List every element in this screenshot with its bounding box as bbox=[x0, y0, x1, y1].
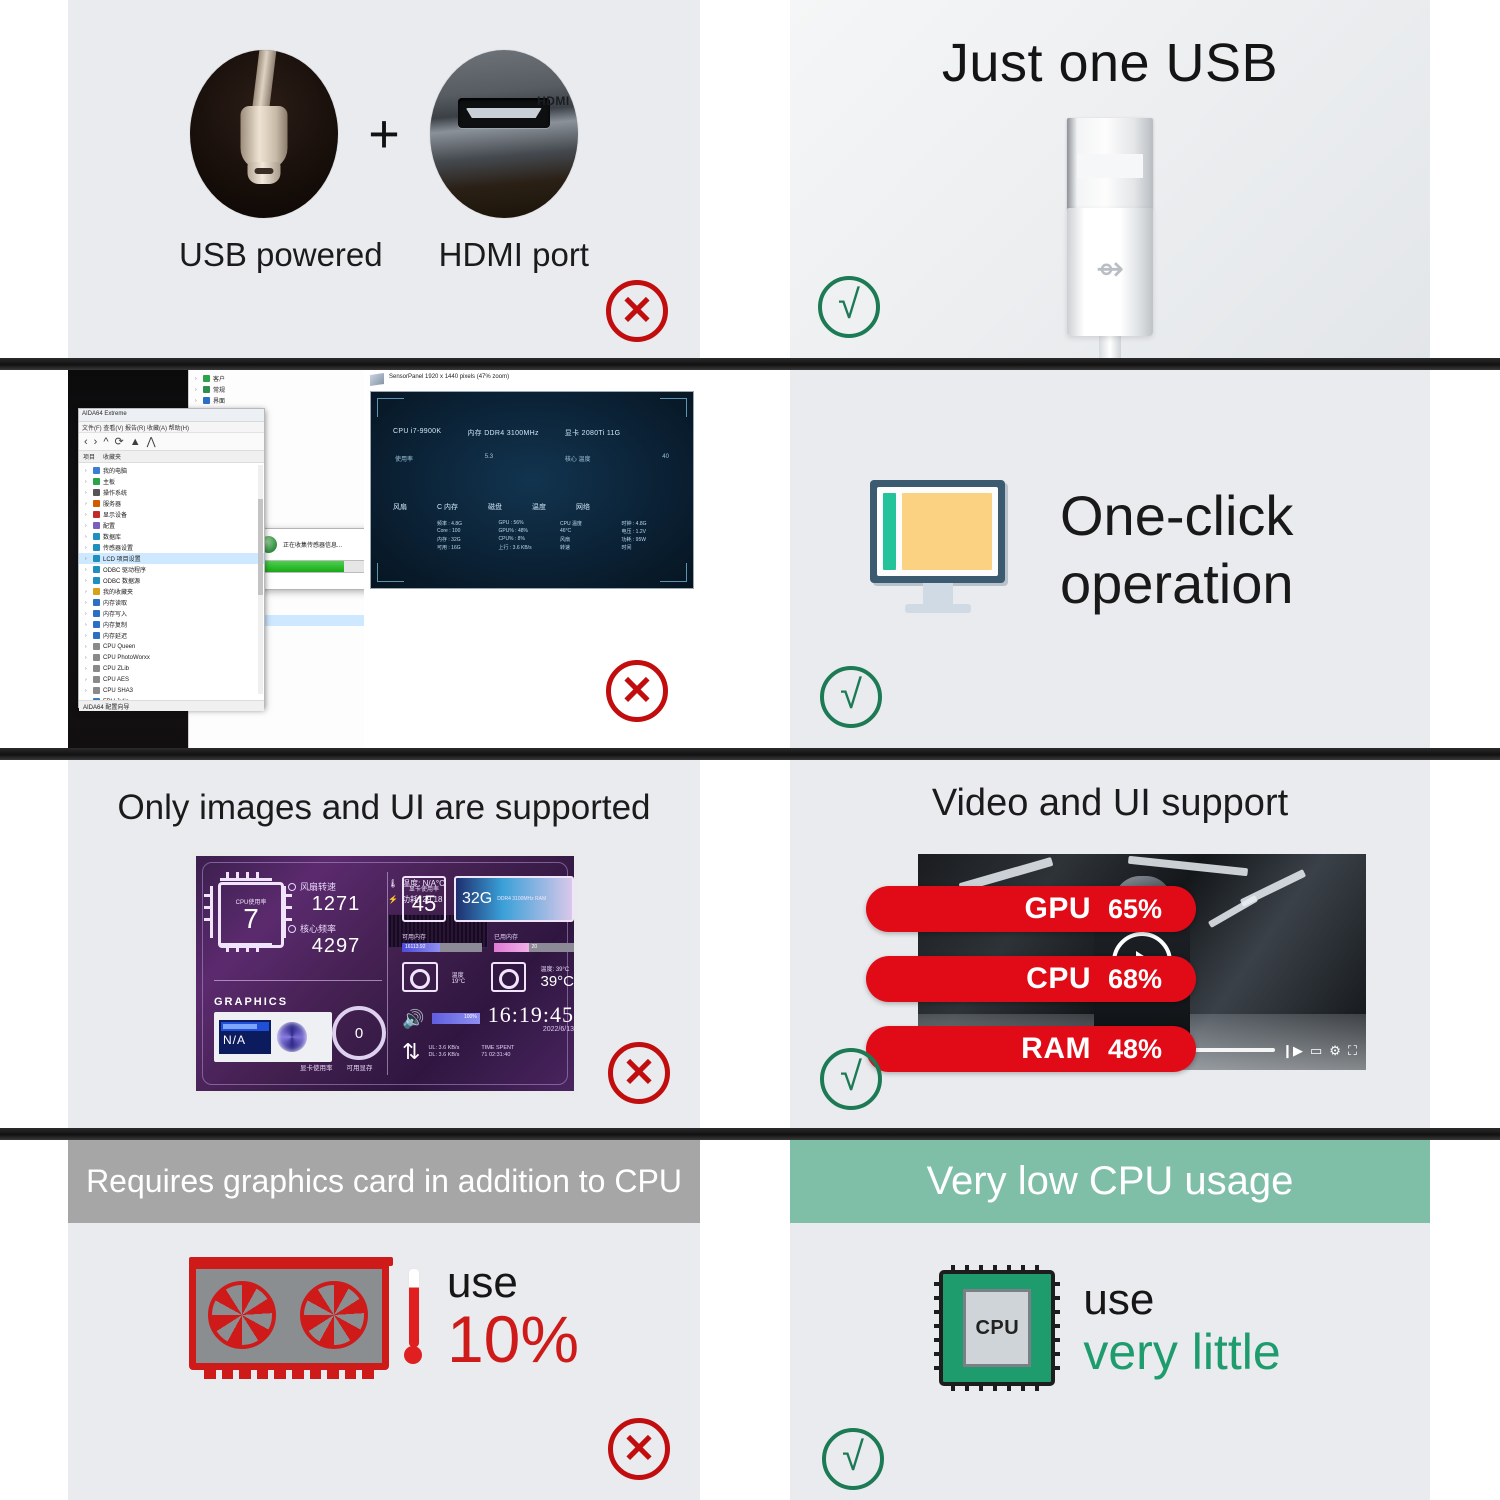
usage-pill-list: GPU 65% CPU 68% RAM 48% bbox=[866, 886, 1196, 1096]
gpu-card-icon: N/A bbox=[214, 1012, 332, 1062]
chevron-icon[interactable]: › bbox=[85, 523, 90, 529]
gpu-usage-gauge: 0 bbox=[332, 1006, 386, 1060]
pill-gpu-label: GPU bbox=[866, 892, 1104, 926]
mem-free-value: 16113.92 bbox=[405, 944, 425, 950]
row-separator-2 bbox=[0, 748, 1500, 760]
one-click-headline: One-click operation bbox=[1060, 482, 1420, 619]
tree-node-label: 界面 bbox=[213, 396, 225, 405]
tree-node-label: 常规 bbox=[213, 385, 225, 394]
connector-labels: USB powered HDMI port bbox=[68, 236, 700, 274]
pill-gpu: GPU 65% bbox=[866, 886, 1196, 932]
chevron-icon[interactable]: › bbox=[85, 633, 90, 639]
usb-a-connector-icon: ⇴ bbox=[1067, 118, 1153, 358]
panel-video-ui-support: Video and UI support ◀❙ ❙▶ ▭ ⚙ ⛶ GPU 65% bbox=[790, 760, 1430, 1128]
chevron-icon[interactable]: › bbox=[85, 567, 90, 573]
pill-gpu-value: 65% bbox=[1104, 894, 1196, 925]
forward-icon[interactable]: › bbox=[94, 436, 98, 448]
gauge-captions: 显卡使用率 可用显存 bbox=[300, 1062, 373, 1072]
plus-symbol: + bbox=[368, 107, 400, 161]
tree-node[interactable]: ›CPU SHA3 bbox=[79, 685, 264, 696]
tree-node[interactable]: ›LCD 项目设置 bbox=[79, 553, 264, 564]
preview-readout: 上行 : 3.6 KB/s bbox=[499, 544, 555, 551]
headline-line-2: operation bbox=[1060, 550, 1420, 618]
gpu-usage-value: 45 bbox=[412, 893, 436, 915]
preview-section-line: 风扇 C 内存 磁盘 温度 网络 bbox=[393, 502, 671, 512]
tree-node[interactable]: ›CPU Queen bbox=[79, 641, 264, 652]
gauge-caption-2: 可用显存 bbox=[347, 1062, 373, 1072]
preview-readout: 时间 bbox=[622, 544, 678, 551]
cross-mark-icon: ✕ bbox=[606, 280, 668, 342]
cpu-chip-icon: CPU bbox=[939, 1270, 1055, 1386]
column-favorites: 收藏夹 bbox=[99, 451, 125, 462]
hdmi-port-label-text: HDMI port bbox=[439, 236, 589, 274]
chevron-icon[interactable]: › bbox=[195, 376, 200, 382]
preview-readout: GPU% : 48% bbox=[499, 528, 555, 535]
window-toolbar[interactable]: ‹ › ^ ⟳ ▲ ⋀ bbox=[79, 433, 264, 451]
thermometer-icon: 🌡 bbox=[388, 879, 398, 888]
tree-node[interactable]: ›CPU ZLib bbox=[79, 663, 264, 674]
preview-readout-grid: 频率 : 4.8GGPU : 56%CPU 温度时钟 : 4.8GCore : … bbox=[437, 520, 677, 551]
core-freq-label: 核心频率 bbox=[288, 922, 384, 935]
tree-node[interactable]: ›常规 bbox=[189, 384, 364, 395]
tree-node[interactable]: ›客户 bbox=[189, 373, 364, 384]
tree-node[interactable]: ›内存写入 bbox=[79, 608, 264, 619]
preview-readout: 功耗 : 95W bbox=[622, 536, 678, 543]
pill-ram-label: RAM bbox=[866, 1032, 1104, 1066]
check-mark-icon: √ bbox=[820, 666, 882, 728]
tree-node-icon bbox=[93, 489, 100, 496]
pill-ram-value: 48% bbox=[1104, 1034, 1196, 1065]
tree-node-label: 配置 bbox=[103, 521, 115, 530]
tree-node[interactable]: ›显示设备 bbox=[79, 509, 264, 520]
aida64-main-window: AIDA64 Extreme 文件(F) 查看(V) 报告(R) 收藏(A) 帮… bbox=[78, 408, 265, 708]
tree-node-label: 操作系统 bbox=[103, 488, 127, 497]
chart-icon[interactable]: ⋀ bbox=[147, 435, 156, 448]
chevron-icon[interactable]: › bbox=[85, 655, 90, 661]
preview-readout: 风扇 bbox=[560, 536, 616, 543]
cross-mark-icon: ✕ bbox=[608, 1418, 670, 1480]
volume-bar: 100% bbox=[432, 1013, 479, 1024]
chevron-icon[interactable]: › bbox=[85, 534, 90, 540]
cpu-use-text: use very little bbox=[1083, 1276, 1280, 1379]
disk2-label: 温度: 39°C bbox=[540, 964, 574, 973]
chevron-icon[interactable]: › bbox=[85, 578, 90, 584]
gpu-fan-icon bbox=[277, 1022, 307, 1052]
tree-node-icon bbox=[93, 621, 100, 628]
cpu-usage-chip: CPU使用率 7 bbox=[218, 882, 284, 948]
tree-node[interactable]: ›配置 bbox=[79, 520, 264, 531]
tree-node[interactable]: ›界面 bbox=[189, 395, 364, 406]
window-status-bar: AIDA64 配置向导 bbox=[79, 700, 264, 711]
tree-node-label: 主板 bbox=[103, 477, 115, 486]
tree-node[interactable]: ›数据库 bbox=[79, 531, 264, 542]
disk2-value: 39°C bbox=[540, 973, 574, 990]
panel-one-click-operation: One-click operation √ bbox=[790, 370, 1430, 748]
usb-c-cable-icon bbox=[190, 50, 338, 218]
mem-used-value: 20 bbox=[532, 944, 538, 950]
tree-node[interactable]: ›服务器 bbox=[79, 498, 264, 509]
cpu-chip-text: CPU bbox=[963, 1289, 1031, 1367]
chevron-icon[interactable]: › bbox=[85, 490, 90, 496]
speaker-icon: 🔊 bbox=[402, 1010, 424, 1028]
tree-node-label: 数据库 bbox=[103, 532, 121, 541]
window-title: AIDA64 Extreme bbox=[79, 409, 264, 422]
tree-node[interactable]: ›传感器设置 bbox=[79, 542, 264, 553]
disk-icon-2 bbox=[491, 962, 527, 992]
tree-node-icon bbox=[203, 386, 210, 393]
aida64-tree[interactable]: ›我的电脑›主板›操作系统›服务器›显示设备›配置›数据库›传感器设置›LCD … bbox=[79, 463, 264, 700]
gear-icon[interactable]: ⚙ bbox=[1329, 1044, 1341, 1057]
tree-node-label: 内存延迟 bbox=[103, 631, 127, 640]
monitor-ui-icon bbox=[870, 480, 1005, 613]
ram-sub-label: DDR4 3100MHz RAM bbox=[492, 896, 546, 902]
tree-node-icon bbox=[93, 665, 100, 672]
thermometer-icon bbox=[403, 1268, 423, 1364]
chevron-icon[interactable]: › bbox=[195, 398, 200, 404]
tree-node[interactable]: ›CPU PhotoWorxx bbox=[79, 652, 264, 663]
tree-node-label: 我的电脑 bbox=[103, 466, 127, 475]
preview-readout: CPU% : 8% bbox=[499, 536, 555, 543]
requires-gpu-caption-text: Requires graphics card in addition to CP… bbox=[86, 1163, 682, 1200]
gauge-value: 0 bbox=[355, 1025, 363, 1042]
chevron-icon[interactable]: › bbox=[85, 545, 90, 551]
hdmi-port-icon: HDMI bbox=[430, 50, 578, 218]
gpu-usage-block: use 10% bbox=[68, 1260, 700, 1372]
preview-readout: 内存 : 32G bbox=[437, 536, 493, 543]
preview-readout: GPU : 56% bbox=[499, 520, 555, 527]
chevron-icon[interactable]: › bbox=[85, 600, 90, 606]
low-cpu-caption-text: Very low CPU usage bbox=[927, 1159, 1294, 1204]
tree-node-label: 显示设备 bbox=[103, 510, 127, 519]
chevron-icon[interactable]: › bbox=[85, 611, 90, 617]
requires-gpu-caption: Requires graphics card in addition to CP… bbox=[68, 1140, 700, 1223]
tree-node-icon bbox=[93, 698, 100, 700]
tree-node-icon bbox=[203, 397, 210, 404]
tree-node-label: CPU PhotoWorxx bbox=[103, 655, 150, 661]
sensorpanel-preview: CPU i7-9900K 内存 DDR4 3100MHz 显卡 2080Ti 1… bbox=[370, 391, 694, 589]
lcd-clock: 16:19:45 bbox=[488, 1004, 574, 1026]
preview-header-text: SensorPanel 1920 x 1440 pixels (47% zoom… bbox=[389, 374, 509, 380]
cross-mark-icon: ✕ bbox=[608, 1042, 670, 1104]
tree-node-label: CPU AES bbox=[103, 677, 129, 683]
lcd-right-readouts: 显卡使用率 45 32G DDR4 3100MHz RAM 可用内存 16113… bbox=[402, 876, 574, 1063]
tree-node-icon bbox=[93, 588, 100, 595]
panel-requires-graphics-card: Requires graphics card in addition to CP… bbox=[68, 1140, 700, 1500]
tree-scrollbar[interactable] bbox=[258, 465, 263, 694]
row-separator-3 bbox=[0, 1128, 1500, 1140]
power-bolt-icon: ⚡ bbox=[388, 895, 398, 904]
cross-mark-icon: ✕ bbox=[606, 660, 668, 722]
mem-used-label: 已用内存 bbox=[494, 932, 574, 941]
chevron-icon[interactable]: › bbox=[85, 501, 90, 507]
net-up-value: UL: 3.6 KB/s bbox=[428, 1045, 459, 1052]
panel-aida64-screenshot: ›客户›常规›界面›稳定性›报告›输出文件›配置样式›电子邮件›FTP›基准›电… bbox=[68, 370, 700, 748]
chevron-icon[interactable]: › bbox=[85, 622, 90, 628]
only-images-headline: Only images and UI are supported bbox=[68, 788, 700, 828]
tree-node-label: 内存写入 bbox=[103, 609, 127, 618]
window-menu-bar: 文件(F) 查看(V) 报告(R) 收藏(A) 帮助(H) bbox=[79, 422, 264, 433]
usb-powered-label: USB powered bbox=[179, 236, 383, 274]
tree-node-label: 我的收藏夹 bbox=[103, 587, 133, 596]
lcd-date: 2022/6/13 bbox=[488, 1026, 574, 1033]
tree-column-headers: 项目 收藏夹 bbox=[79, 451, 264, 463]
tree-node[interactable]: ›内存延迟 bbox=[79, 630, 264, 641]
lcd-left-readouts: 风扇转速 1271 核心频率 4297 bbox=[288, 880, 384, 958]
tree-node-icon bbox=[93, 599, 100, 606]
up-icon[interactable]: ^ bbox=[103, 436, 108, 448]
cpu-use-label: use bbox=[1083, 1276, 1280, 1324]
network-arrows-icon: ⇅ bbox=[402, 1041, 420, 1063]
disk-icon-1 bbox=[402, 962, 438, 992]
ram-size-value: 32G bbox=[456, 890, 492, 908]
panel-only-images-ui: Only images and UI are supported bbox=[68, 760, 700, 1128]
chevron-icon[interactable]: › bbox=[195, 387, 200, 393]
gpu-use-label: use bbox=[447, 1260, 579, 1306]
graphics-card-icon bbox=[189, 1262, 389, 1370]
chevron-icon[interactable]: › bbox=[85, 556, 90, 562]
tree-node[interactable]: ›我的电脑 bbox=[79, 465, 264, 476]
tree-node-icon bbox=[93, 511, 100, 518]
ram-module-icon: 32G DDR4 3100MHz RAM bbox=[454, 876, 574, 922]
tree-node-label: ODBC 数据源 bbox=[103, 576, 140, 585]
gpu-use-value: 10% bbox=[447, 1306, 579, 1372]
panel-very-low-cpu-usage: Very low CPU usage CPU bbox=[790, 1140, 1430, 1500]
tree-node[interactable]: ›主板 bbox=[79, 476, 264, 487]
preview-readout: 频率 : 4.8G bbox=[437, 520, 493, 527]
preview-readout: CPU 温度 bbox=[560, 520, 616, 527]
volume-and-clock: 🔊 100% 16:19:45 2022/6/13 bbox=[402, 1004, 574, 1033]
cpu-use-value: very little bbox=[1083, 1325, 1280, 1380]
cpu-usage-block: CPU bbox=[790, 1270, 1430, 1386]
tree-node-icon bbox=[93, 676, 100, 683]
headline-line-1: One-click bbox=[1060, 482, 1420, 550]
infographic-sheet: + HDMI USB powered HDMI port ✕ Just one … bbox=[0, 0, 1500, 1500]
pill-ram: RAM 48% bbox=[866, 1026, 1196, 1072]
uptime-value: 71 02:31:40 bbox=[481, 1052, 514, 1059]
tree-node[interactable]: ›ODBC 驱动程序 bbox=[79, 564, 264, 575]
row-separator-1 bbox=[0, 358, 1500, 370]
tree-node-label: 客户 bbox=[213, 374, 225, 383]
tree-node-label: 内存读取 bbox=[103, 598, 127, 607]
tree-node-icon bbox=[93, 522, 100, 529]
gauge-caption-1: 显卡使用率 bbox=[300, 1062, 333, 1072]
report-icon[interactable]: ▲ bbox=[130, 436, 141, 448]
tree-node-label: 服务器 bbox=[103, 499, 121, 508]
preview-spec-line: CPU i7-9900K 内存 DDR4 3100MHz 显卡 2080Ti 1… bbox=[393, 428, 671, 438]
sensor-progress-bar bbox=[260, 560, 365, 573]
uptime-label: TIME SPENT bbox=[481, 1045, 514, 1052]
tree-node[interactable]: ›内存读取 bbox=[79, 597, 264, 608]
column-item: 项目 bbox=[79, 451, 99, 462]
tree-node-icon bbox=[93, 610, 100, 617]
tree-node[interactable]: ›CPU AES bbox=[79, 674, 264, 685]
preview-readout: 电压 : 1.2V bbox=[622, 528, 678, 535]
tree-node-label: 传感器设置 bbox=[103, 543, 133, 552]
next-track-icon[interactable]: ❙▶ bbox=[1282, 1044, 1303, 1057]
low-cpu-caption: Very low CPU usage bbox=[790, 1140, 1430, 1223]
hdmi-port-label: HDMI bbox=[537, 94, 570, 108]
preview-readout: 46°C bbox=[560, 528, 616, 535]
tree-node-label: LCD 项目设置 bbox=[103, 554, 141, 563]
tree-node-label: ODBC 驱动程序 bbox=[103, 565, 146, 574]
panel-usb-powered-hdmi: + HDMI USB powered HDMI port ✕ bbox=[68, 0, 700, 358]
connector-row: + HDMI bbox=[68, 44, 700, 224]
refresh-icon[interactable]: ⟳ bbox=[115, 435, 124, 448]
chevron-icon[interactable]: › bbox=[85, 699, 90, 701]
just-one-usb-headline: Just one USB bbox=[790, 32, 1430, 94]
disk-temps: 温度 19°C 温度: 39°C 39°C bbox=[402, 962, 574, 992]
chevron-icon[interactable]: › bbox=[85, 644, 90, 650]
closed-caption-icon[interactable]: ▭ bbox=[1310, 1044, 1322, 1057]
tree-node-label: CPU Queen bbox=[103, 644, 135, 650]
sensor-dialog-text: 正在收集传感器信息... bbox=[283, 540, 342, 549]
tree-node-icon bbox=[93, 654, 100, 661]
tree-node-icon bbox=[93, 632, 100, 639]
tree-node-icon bbox=[93, 533, 100, 540]
fan-speed-value: 1271 bbox=[288, 893, 384, 916]
pill-cpu: CPU 68% bbox=[866, 956, 1196, 1002]
tree-node-icon bbox=[93, 566, 100, 573]
chevron-icon[interactable]: › bbox=[85, 677, 90, 683]
chevron-icon[interactable]: › bbox=[85, 468, 90, 474]
pill-cpu-label: CPU bbox=[866, 962, 1104, 996]
tree-node-icon bbox=[93, 478, 100, 485]
gpu-use-text: use 10% bbox=[447, 1260, 579, 1372]
tree-node-label: FPU Julia bbox=[103, 699, 129, 701]
tree-node-icon bbox=[203, 375, 210, 382]
collecting-sensor-dialog: 正在收集传感器信息... bbox=[251, 528, 365, 590]
preview-readout: Core : 100 bbox=[437, 528, 493, 535]
tree-node-label: CPU SHA3 bbox=[103, 688, 133, 694]
core-freq-value: 4297 bbox=[288, 935, 384, 958]
tree-node[interactable]: ›操作系统 bbox=[79, 487, 264, 498]
preview-thumb-icon bbox=[370, 373, 384, 386]
preview-value-line: 使用率 5.3 核心 温度 40 bbox=[395, 454, 669, 463]
tree-node-icon bbox=[93, 500, 100, 507]
chevron-icon[interactable]: › bbox=[85, 589, 90, 595]
mem-free-label: 可用内存 bbox=[402, 932, 482, 941]
tree-node-icon bbox=[93, 544, 100, 551]
preview-readout: 可用 : 16G bbox=[437, 544, 493, 551]
chevron-icon[interactable]: › bbox=[85, 512, 90, 518]
preview-readout: 转速 bbox=[560, 544, 616, 551]
check-mark-icon: √ bbox=[822, 1428, 884, 1490]
fan-speed-label: 风扇转速 bbox=[288, 880, 384, 893]
memory-bars: 可用内存 16113.92 已用内存 20 bbox=[402, 932, 574, 952]
tree-node-icon bbox=[93, 555, 100, 562]
tree-node[interactable]: ›我的收藏夹 bbox=[79, 586, 264, 597]
chevron-icon[interactable]: › bbox=[85, 688, 90, 694]
chevron-icon[interactable]: › bbox=[85, 666, 90, 672]
tree-node-icon bbox=[93, 687, 100, 694]
cpu-usage-value: 7 bbox=[243, 906, 259, 933]
pill-cpu-value: 68% bbox=[1104, 964, 1196, 995]
video-support-headline: Video and UI support bbox=[790, 782, 1430, 825]
net-down-value: DL: 3.6 KB/s bbox=[428, 1052, 459, 1059]
fullscreen-icon[interactable]: ⛶ bbox=[1348, 1044, 1357, 1057]
preview-readout: 时钟 : 4.8G bbox=[622, 520, 678, 527]
usb-glyph-icon: ⇴ bbox=[1096, 252, 1125, 286]
volume-value: 100% bbox=[464, 1014, 477, 1020]
tree-node-label: 内存复制 bbox=[103, 620, 127, 629]
chevron-icon[interactable]: › bbox=[85, 479, 90, 485]
gpu-usage-box: 显卡使用率 45 bbox=[402, 876, 446, 922]
tree-node-icon bbox=[93, 643, 100, 650]
lcd-sensor-display: CPU使用率 7 风扇转速 1271 核心频率 4297 🌡 温度: N/A°C… bbox=[192, 852, 578, 1095]
check-mark-icon: √ bbox=[818, 276, 880, 338]
panel-just-one-usb: Just one USB ⇴ √ bbox=[790, 0, 1430, 358]
tree-node[interactable]: ›ODBC 数据源 bbox=[79, 575, 264, 586]
back-icon[interactable]: ‹ bbox=[84, 436, 88, 448]
tree-node-icon bbox=[93, 577, 100, 584]
network-stats: ⇅ UL: 3.6 KB/s DL: 3.6 KB/s TIME SPENT 7… bbox=[402, 1041, 574, 1063]
check-mark-icon: √ bbox=[820, 1048, 882, 1110]
disk1-label: 温度 19°C bbox=[452, 970, 477, 985]
tree-node[interactable]: ›内存复制 bbox=[79, 619, 264, 630]
tree-node-label: CPU ZLib bbox=[103, 666, 129, 672]
gpu-card-value: N/A bbox=[223, 1033, 246, 1047]
tree-node[interactable]: ›FPU Julia bbox=[79, 696, 264, 700]
tree-node-icon bbox=[93, 467, 100, 474]
